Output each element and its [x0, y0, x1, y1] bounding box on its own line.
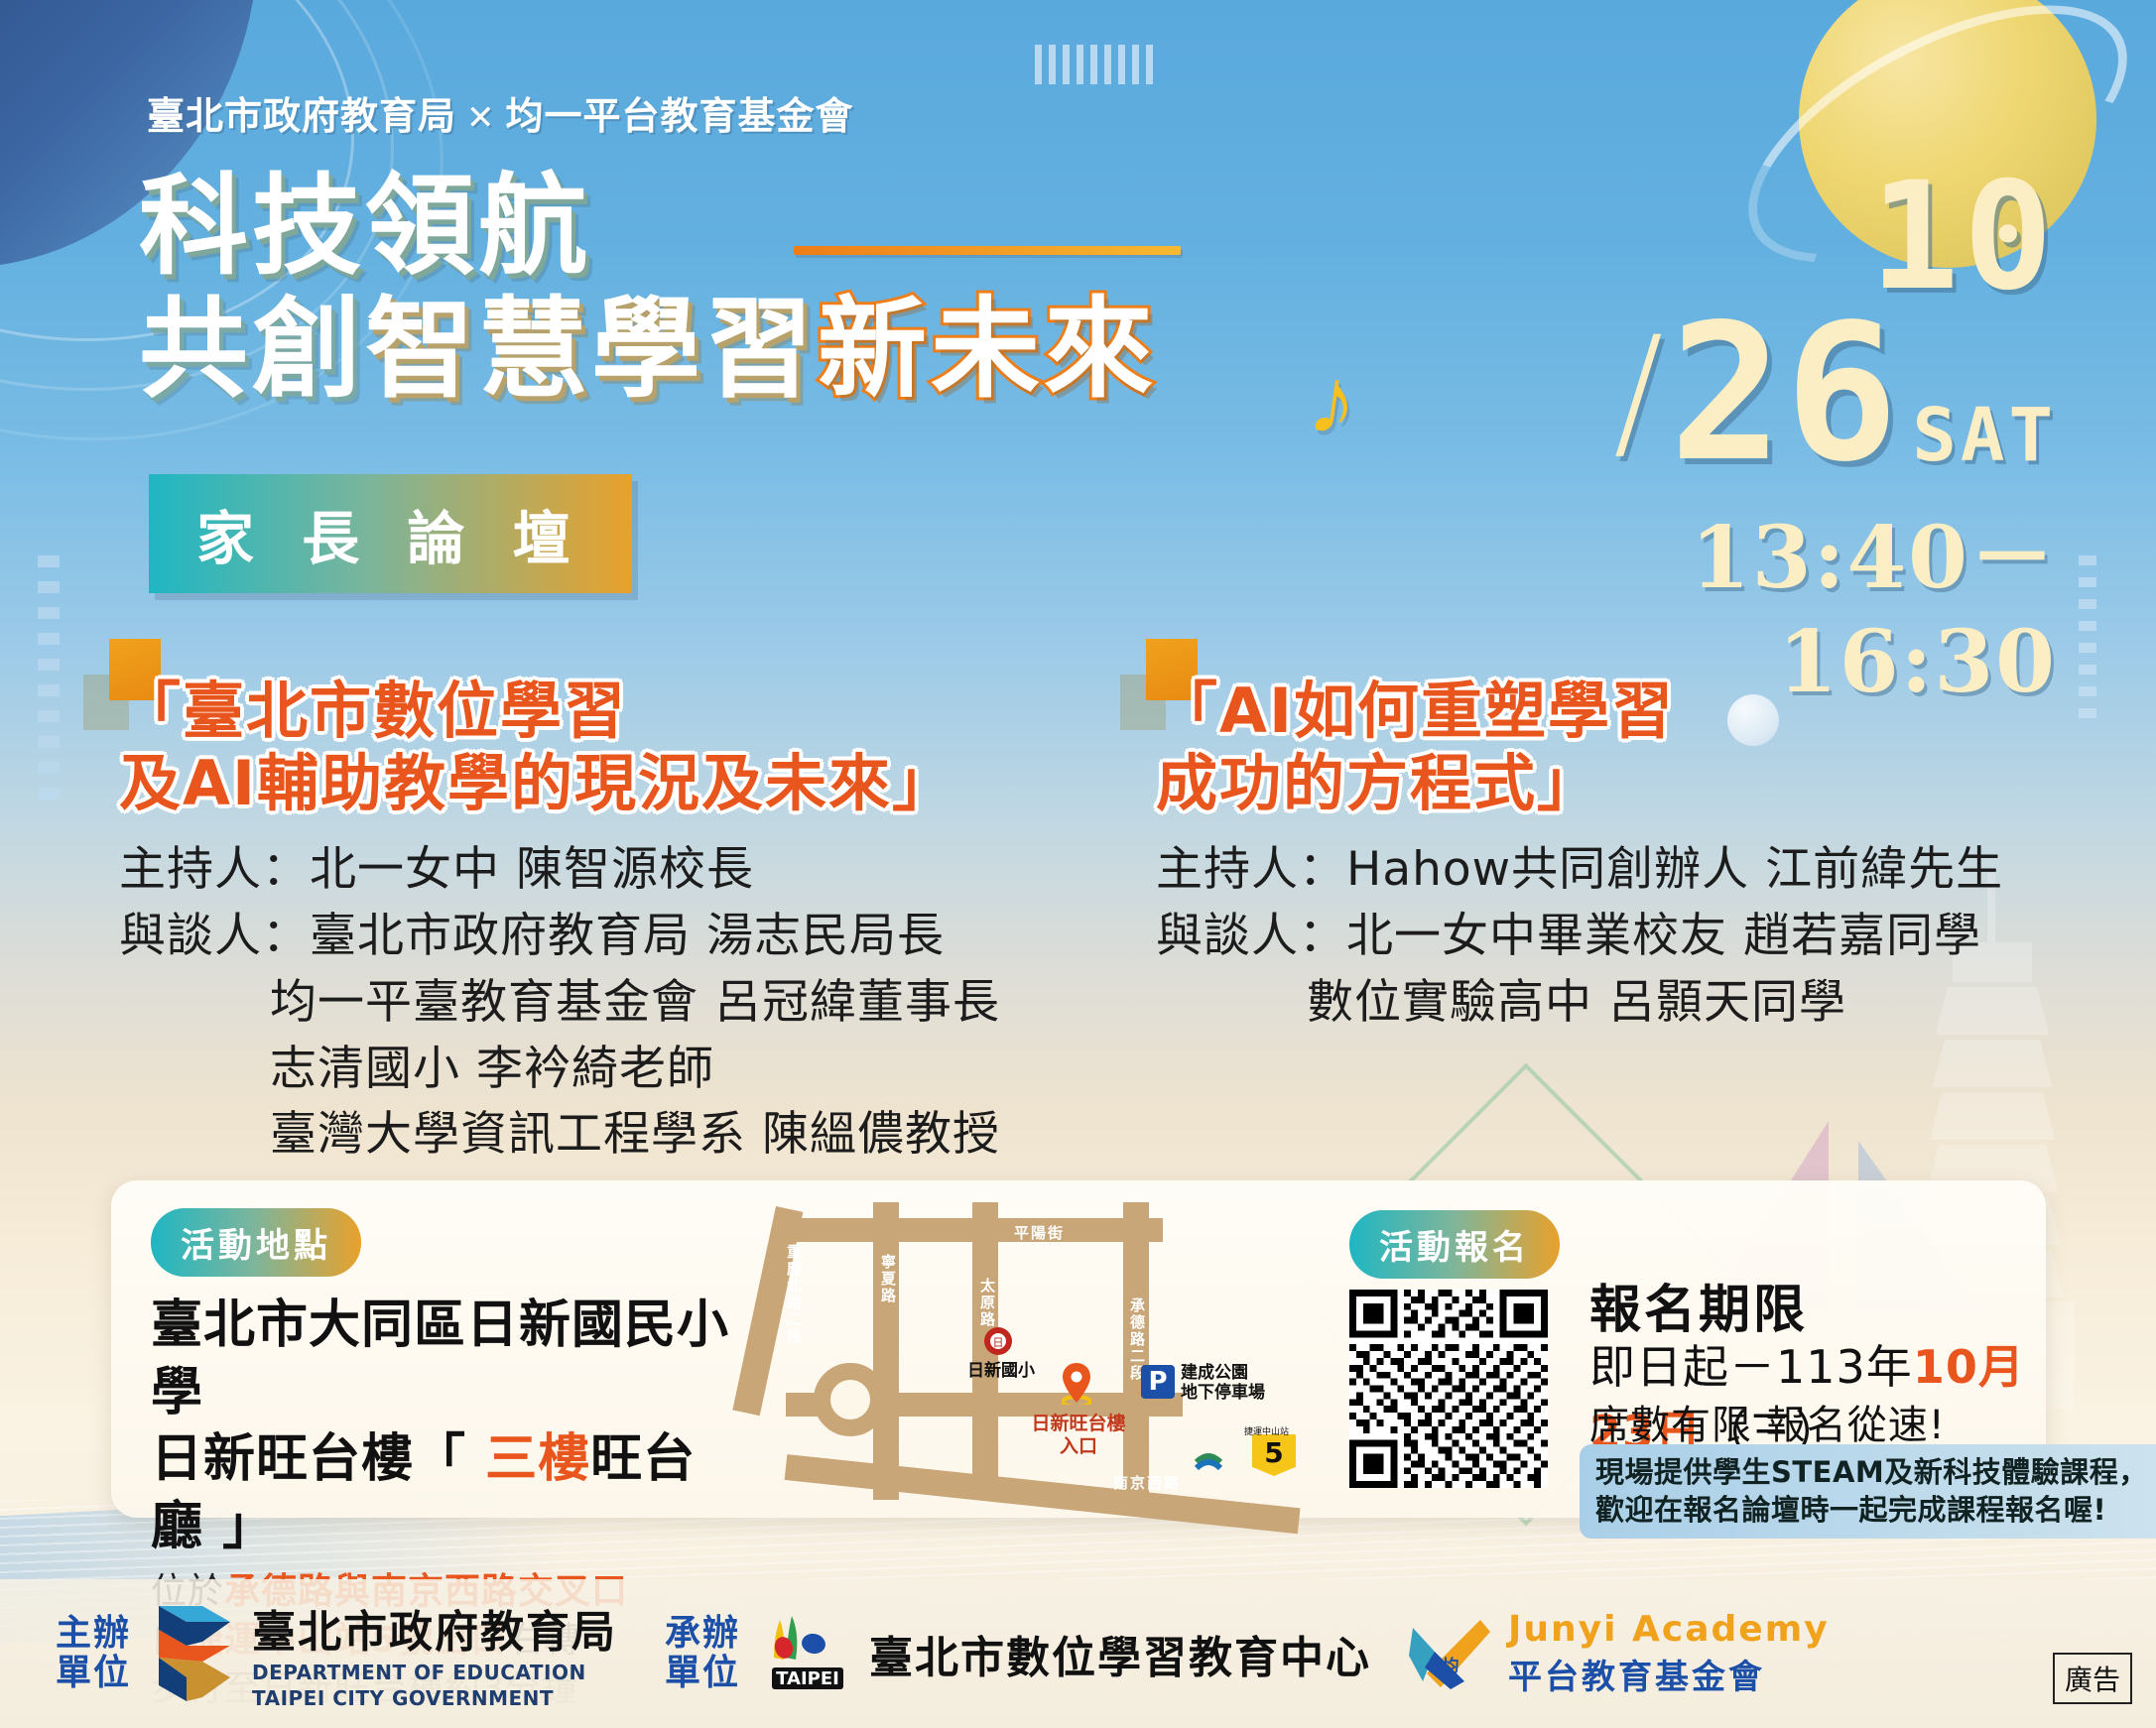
- session-right-host: 主持人：Hahow共同創辦人 江前緯先生: [1156, 837, 2108, 904]
- registration-date-pre: 即日起－113年: [1589, 1340, 1913, 1394]
- session-block-left: 「臺北市數位學習 及AI輔助教學的現況及未來」 主持人：北一女中 陳智源校長 與…: [119, 675, 1121, 1169]
- map-label-chongqing: 重慶北路二段: [784, 1244, 805, 1345]
- date-weekday: SAT: [1912, 393, 2057, 478]
- svg-text:日: 日: [993, 1336, 1004, 1349]
- mrt-logo-icon: [1195, 1444, 1250, 1470]
- title-segment-b: 智慧學習: [365, 286, 818, 413]
- session-left-panel-label: 與談人：臺北市政府教育局 湯志民局長: [119, 904, 1121, 970]
- session-body-left: 主持人：北一女中 陳智源校長 與談人：臺北市政府教育局 湯志民局長 均一平臺教育…: [119, 837, 1121, 1169]
- registration-banner-line2: 歡迎在報名論壇時一起完成課程報名喔!: [1595, 1492, 2156, 1530]
- registration-seats-note: 席數有限 報名從速!: [1589, 1393, 1946, 1450]
- session-title-right: 「AI如何重塑學習 成功的方程式」: [1156, 675, 2108, 819]
- session-title-left-line1: 「臺北市數位學習: [119, 675, 1121, 747]
- organizer-label-line2: 單位: [56, 1654, 131, 1693]
- doe-text-block: 臺北市政府教育局 DEPARTMENT OF EDUCATION TAIPEI …: [252, 1596, 617, 1711]
- map-destination-label: 日新旺台樓 入口: [1014, 1413, 1143, 1458]
- session-title-right-line2: 成功的方程式」: [1156, 747, 2108, 819]
- venue-floor-highlight: 三樓: [485, 1429, 590, 1489]
- roundabout: [814, 1363, 887, 1436]
- venue-pill-badge: 活動地點: [151, 1208, 361, 1277]
- svg-text:TAIPEI: TAIPEI: [776, 1668, 839, 1689]
- title-segment-c: 新未來: [818, 286, 1157, 413]
- info-card: 活動地點 臺北市大同區日新國民小學 日新旺台樓「 三樓旺台廳 」 位於承德路與南…: [111, 1180, 2046, 1518]
- session-left-panelist-3: 臺灣大學資訊工程學系 陳縕儂教授: [119, 1102, 1121, 1169]
- executor-label-line2: 單位: [665, 1654, 740, 1693]
- event-date-block: 10 / 26 SAT 13:40－16:30: [1422, 169, 2057, 712]
- session-left-panelist-1: 均一平臺教育基金會 呂冠緯董事長: [119, 970, 1121, 1037]
- session-body-right: 主持人：Hahow共同創辦人 江前緯先生 與談人：北一女中畢業校友 趙若嘉同學 …: [1156, 837, 2108, 1036]
- map-parking-line1: 建成公園: [1181, 1363, 1310, 1383]
- session-right-panelist-1: 數位實驗高中 呂顥天同學: [1156, 970, 2108, 1037]
- date-day-row: / 26 SAT: [1422, 306, 2057, 478]
- session-left-panelist-2: 志清國小 李衿綺老師: [119, 1037, 1121, 1103]
- session-block-right: 「AI如何重塑學習 成功的方程式」 主持人：Hahow共同創辦人 江前緯先生 與…: [1156, 675, 2108, 1037]
- venue-name-line1: 臺北市大同區日新國民小學: [151, 1293, 746, 1426]
- event-poster: 臺北市政府教育局✕均一平台教育基金會 科技領航 共創智慧學習新未來 ♪ 家 長 …: [0, 0, 2156, 1728]
- pixel-dots-decoration: [1035, 45, 1154, 84]
- executor-label-line1: 承辦: [665, 1614, 740, 1654]
- date-day: 26: [1670, 309, 1901, 478]
- road-ningxia: [873, 1202, 899, 1500]
- forum-type-badge: 家 長 論 壇: [149, 474, 632, 593]
- session-title-left: 「臺北市數位學習 及AI輔助教學的現況及未來」: [119, 675, 1121, 819]
- organizer-label: 主辦 單位: [56, 1614, 131, 1694]
- map-parking-label: 建成公園 地下停車場: [1181, 1363, 1310, 1404]
- dlc-name-cn: 臺北市數位學習教育中心: [869, 1622, 1371, 1685]
- junyi-text-block: Junyi Academy 平台教育基金會: [1508, 1609, 1830, 1698]
- parking-icon: P: [1141, 1365, 1175, 1399]
- session-title-right-line1: 「AI如何重塑學習: [1156, 675, 2108, 747]
- registration-pill-badge: 活動報名: [1349, 1210, 1560, 1279]
- footer: 主辦 單位 臺北市政府教育局 DEPARTMENT OF EDUCATION T…: [0, 1579, 2156, 1728]
- page-title-line-2: 共創智慧學習新未來: [139, 260, 1157, 419]
- mrt-exit-caption: 捷運中山站: [1244, 1424, 1289, 1437]
- registration-qr-code[interactable]: [1349, 1290, 1548, 1488]
- title-segment-a: 共創: [139, 286, 365, 413]
- map-school-label: 日新國小: [956, 1361, 1046, 1381]
- doe-name-cn: 臺北市政府教育局: [252, 1596, 617, 1660]
- map-label-pingyang: 平陽街: [1014, 1222, 1065, 1243]
- taipei-city-logo-icon: TAIPEI: [770, 1612, 855, 1695]
- map-destination-line2: 入口: [1014, 1435, 1143, 1458]
- registration-banner-line1: 現場提供學生STEAM及新科技體驗課程，: [1595, 1454, 2156, 1492]
- music-note-icon: ♪: [1303, 344, 1365, 459]
- title-underline-rule: [794, 246, 1181, 255]
- co-host-kicker: 臺北市政府教育局✕均一平台教育基金會: [147, 85, 854, 140]
- doe-name-en-line1: DEPARTMENT OF EDUCATION: [252, 1660, 617, 1685]
- session-right-panel-label: 與談人：北一女中畢業校友 趙若嘉同學: [1156, 904, 2108, 970]
- organizer-label-line1: 主辦: [56, 1614, 131, 1654]
- location-map: 重慶北路二段 寧夏路 太原路 平陽街 承德路二段 南京西路 日 日新國小 日新旺…: [766, 1198, 1322, 1496]
- registration-course-banner: 現場提供學生STEAM及新科技體驗課程， 歡迎在報名論壇時一起完成課程報名喔!: [1580, 1444, 2156, 1539]
- map-label-nanjing: 南京西路: [1113, 1472, 1181, 1493]
- date-slash: /: [1613, 306, 1664, 478]
- session-title-left-line2: 及AI輔助教學的現況及未來」: [119, 747, 1121, 819]
- venue-name-line2: 日新旺台樓「 三樓旺台廳 」: [151, 1426, 746, 1560]
- mrt-exit-5-badge: 5: [1252, 1434, 1296, 1476]
- kicker-left-org: 臺北市政府教育局: [147, 94, 456, 138]
- map-parking-line2: 地下停車場: [1181, 1383, 1310, 1403]
- junyi-name-en: Junyi Academy: [1508, 1609, 1830, 1650]
- map-label-ningxia: 寧夏路: [878, 1254, 899, 1304]
- taipei-doe-logo-icon: [153, 1602, 236, 1705]
- map-pin-icon: [1062, 1363, 1091, 1405]
- doe-name-en-line2: TAIPEI CITY GOVERNMENT: [252, 1685, 617, 1711]
- advertisement-label: 廣告: [2053, 1653, 2132, 1704]
- map-label-taiyuan: 太原路: [977, 1278, 998, 1328]
- road-pingyang: [786, 1218, 1163, 1242]
- venue-l2-pre: 日新旺台樓「: [151, 1429, 485, 1489]
- junyi-academy-logo-icon: 均: [1405, 1612, 1496, 1695]
- map-destination-line1: 日新旺台樓: [1014, 1413, 1143, 1435]
- school-crest-icon: 日: [982, 1325, 1014, 1357]
- junyi-name-cn: 平台教育基金會: [1508, 1650, 1830, 1698]
- session-left-host: 主持人：北一女中 陳智源校長: [119, 837, 1121, 904]
- executor-label: 承辦 單位: [665, 1614, 740, 1694]
- kicker-x-glyph: ✕: [456, 98, 506, 138]
- junyi-mark-char: 均: [1443, 1656, 1459, 1676]
- pixel-column-left-decoration: [38, 555, 60, 803]
- kicker-right-org: 均一平台教育基金會: [506, 94, 854, 138]
